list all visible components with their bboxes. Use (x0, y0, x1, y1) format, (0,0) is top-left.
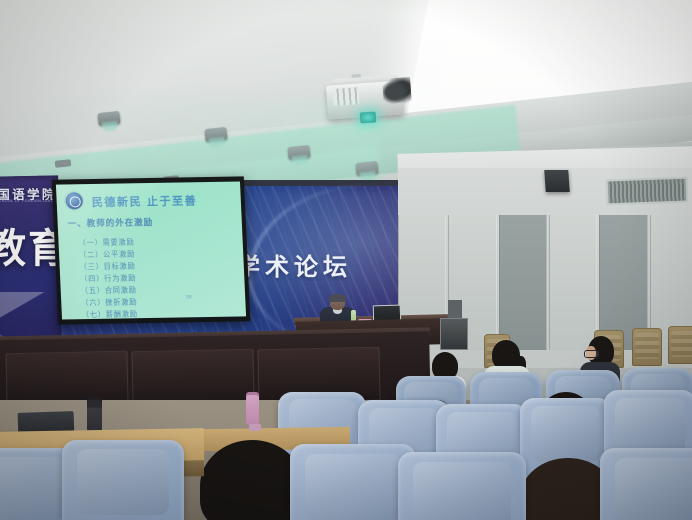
stage-panel (131, 349, 254, 406)
acoustic-panel-dark (499, 215, 547, 350)
equipment-rack-top (448, 300, 462, 320)
projection-screen: 民德新民 止于至善 一、教师的外在激励 （一）需要激励 （二）公平激励 （三）目… (56, 181, 246, 319)
eyeglasses-icon (584, 350, 599, 358)
spotlight-icon (355, 161, 378, 176)
presenter-hair (329, 294, 346, 302)
lecture-hall-photo: 学术论坛 国语学院 SCHOOL OF FOREIGN LANGUAGES 教育… (0, 0, 692, 520)
screen-glare (56, 181, 246, 319)
black-thermos-icon (87, 400, 102, 434)
wall-speaker-icon (544, 170, 570, 192)
acoustic-panel (549, 215, 597, 350)
side-chair (632, 328, 662, 366)
left-banner-subtitle: SCHOOL OF FOREIGN LANGUAGES (0, 199, 58, 207)
projector-vent (332, 87, 359, 106)
backdrop-title: 学术论坛 (236, 247, 366, 281)
auditorium-seat[interactable] (600, 448, 692, 520)
stage-panel (5, 351, 128, 408)
equipment-rack (440, 318, 468, 350)
side-chair (668, 326, 692, 364)
cup (249, 424, 261, 431)
spotlight-icon (97, 111, 120, 126)
projector-lens-icon (360, 111, 377, 123)
pink-thermos-icon (246, 395, 259, 425)
auditorium-seat[interactable] (398, 452, 526, 520)
air-vent-icon (606, 177, 689, 206)
spotlight-icon (204, 127, 227, 142)
left-banner-school-name: 国语学院 (0, 184, 58, 200)
auditorium-seat[interactable] (62, 440, 184, 520)
projector-cables (382, 77, 412, 107)
spotlight-icon (287, 145, 310, 160)
